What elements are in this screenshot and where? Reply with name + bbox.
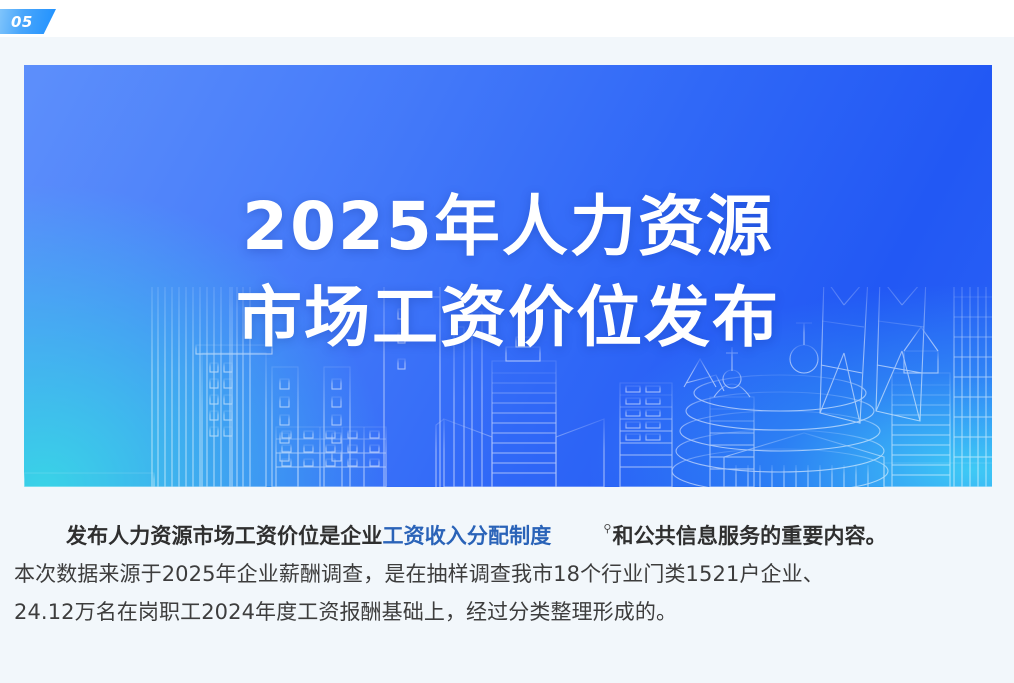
lead-paragraph: 发布人力资源市场工资价位是企业工资收入分配制度⚲和公共信息服务的重要内容。 — [14, 513, 1000, 555]
section-number-label: 05 — [11, 13, 33, 31]
banner-title: 2025年人力资源 市场工资价位发布 — [24, 181, 992, 363]
banner-title-line-2: 市场工资价位发布 — [24, 272, 992, 363]
article-body: 发布人力资源市场工资价位是企业工资收入分配制度⚲和公共信息服务的重要内容。 本次… — [14, 513, 1000, 631]
body-paragraph-line-2: 本次数据来源于2025年企业薪酬调查，是在抽样调查我市18个行业门类1521户企… — [14, 555, 1000, 593]
wage-distribution-system-link[interactable]: 工资收入分配制度 — [383, 524, 552, 548]
body-paragraph-line-3: 24.12万名在岗职工2024年度工资报酬基础上，经过分类整理形成的。 — [14, 593, 1000, 631]
banner-title-line-1: 2025年人力资源 — [24, 181, 992, 272]
top-white-strip — [0, 0, 1014, 37]
lead-suffix-text: 和公共信息服务的重要内容。 — [612, 524, 886, 548]
hero-banner: 2025年人力资源 市场工资价位发布 — [24, 65, 992, 487]
lead-prefix-text: 发布人力资源市场工资价位是企业 — [66, 524, 383, 548]
search-icon[interactable]: ⚲ — [551, 510, 611, 548]
